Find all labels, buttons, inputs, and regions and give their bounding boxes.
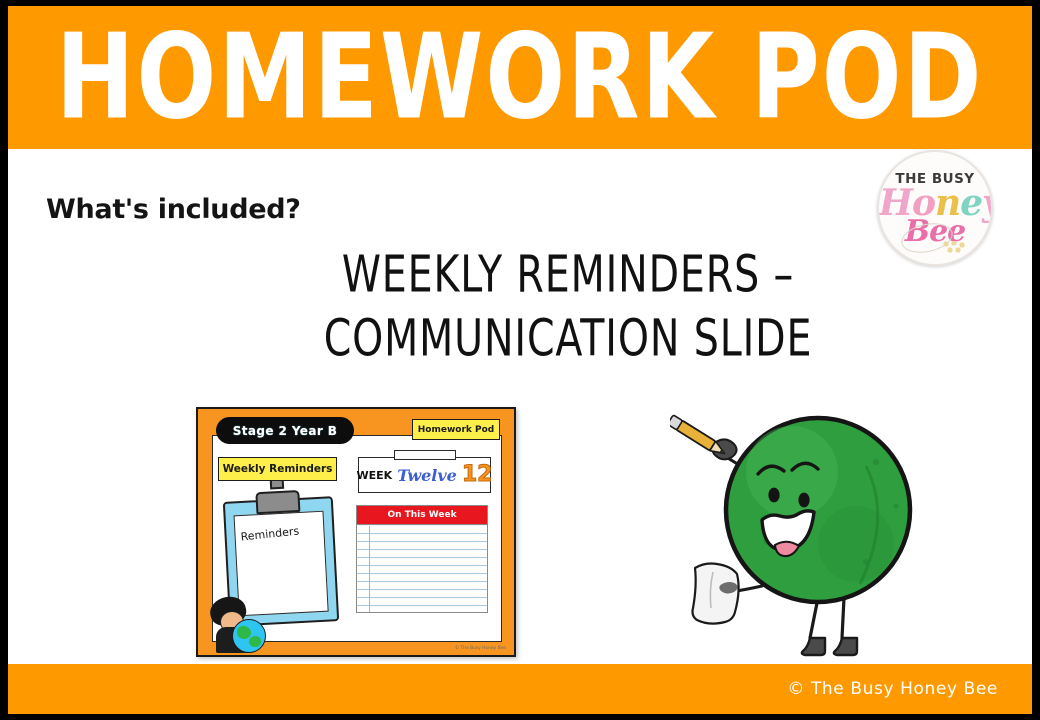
preview-copyright: © The Busy Honey Bee	[455, 646, 506, 651]
preview-week-box: WEEK Twelve 12	[358, 457, 491, 493]
header-banner: Homework Pod	[8, 6, 1032, 149]
page-title: Homework Pod	[56, 19, 984, 137]
headline-line-2: Communication Slide	[301, 306, 834, 370]
preview-week-word: Twelve	[397, 466, 457, 485]
preview-week-number: 12	[462, 464, 493, 486]
preview-clipboard-clamp-icon	[255, 490, 300, 514]
footer-banner: © The Busy Honey Bee	[8, 664, 1032, 714]
preview-homework-pod-label: Homework Pod	[418, 425, 494, 435]
preview-child-illustration	[208, 595, 270, 653]
preview-globe-icon	[232, 619, 266, 653]
whats-included-label: What's included?	[46, 194, 301, 225]
green-pea-character	[670, 402, 930, 670]
preview-notepad-header: On This Week	[357, 506, 487, 525]
preview-stage-pill: Stage 2 Year B	[216, 417, 354, 444]
logo-honeycomb-icon	[943, 241, 965, 253]
preview-weekly-reminders-tag: Weekly Reminders	[218, 457, 337, 481]
preview-weekly-reminders-label: Weekly Reminders	[223, 463, 333, 475]
preview-week-tab	[394, 450, 456, 460]
green-pea-illustration	[670, 402, 930, 670]
preview-stage-pill-label: Stage 2 Year B	[233, 424, 338, 438]
slide-canvas: Homework Pod THE BUSY Honey Bee What's i…	[8, 6, 1032, 714]
weekly-reminders-slide-preview[interactable]: Stage 2 Year B Homework Pod Weekly Remin…	[196, 407, 516, 657]
preview-notepad-header-label: On This Week	[387, 510, 456, 520]
footer-copyright: © The Busy Honey Bee	[787, 679, 998, 699]
preview-notepad-lines	[357, 526, 487, 612]
preview-week-label: WEEK	[357, 469, 393, 482]
preview-notepad: On This Week	[356, 505, 488, 613]
preview-homework-pod-tag: Homework Pod	[412, 419, 500, 440]
brand-logo-badge: THE BUSY Honey Bee	[877, 150, 993, 266]
headline-line-1: Weekly Reminders –	[301, 242, 834, 306]
slide-headline: Weekly Reminders – Communication Slide	[301, 242, 834, 370]
preview-notepad-margin-rule	[369, 526, 370, 612]
